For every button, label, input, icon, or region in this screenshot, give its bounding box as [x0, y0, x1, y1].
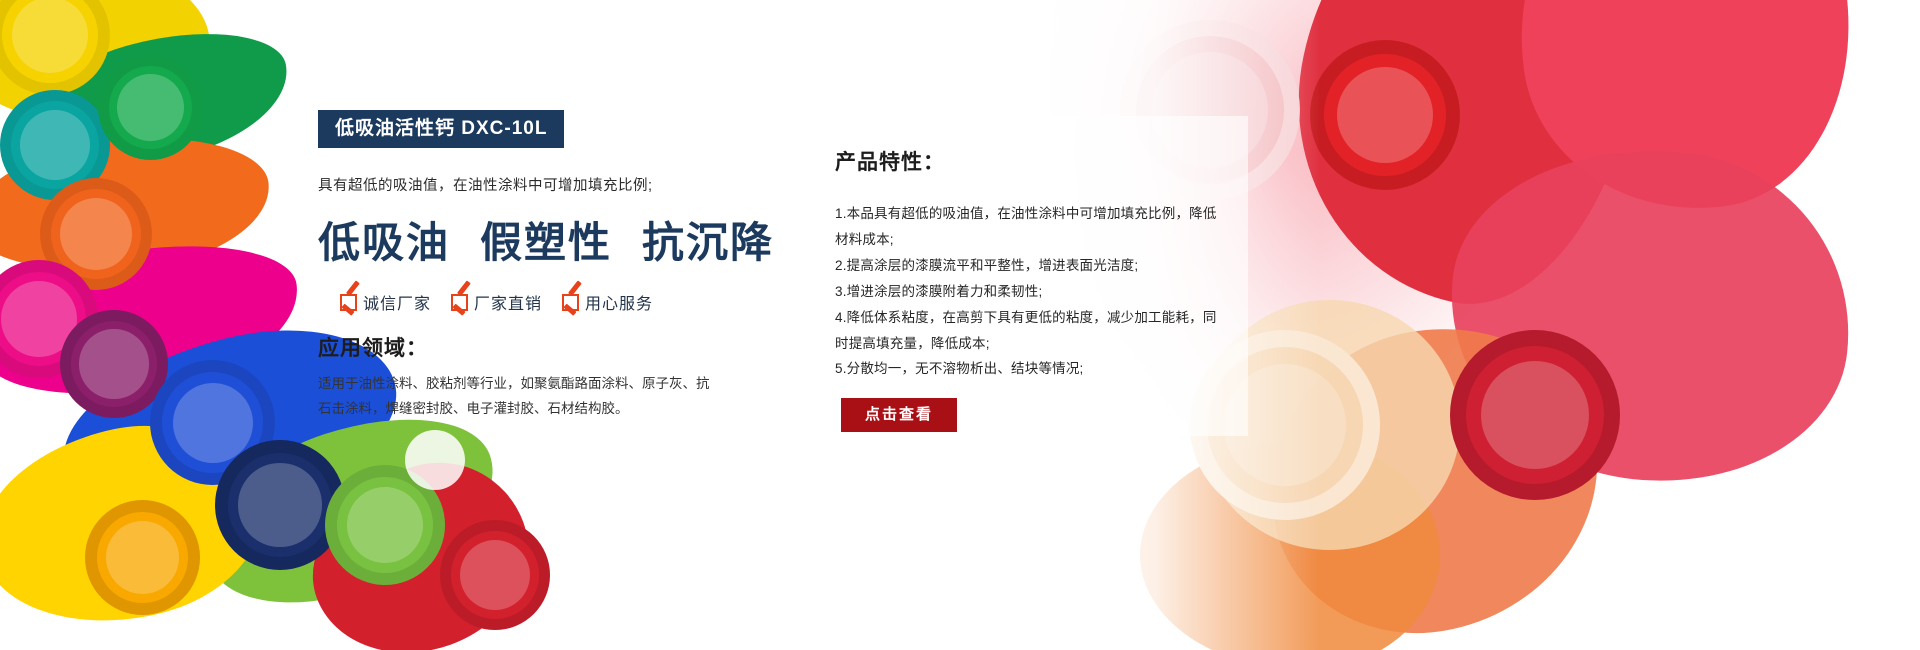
- feature-item: 5.分散均一，无不溶物析出、结块等情况;: [835, 356, 1220, 382]
- paint-pot-purple: [60, 310, 168, 418]
- paint-drop-white: [405, 430, 465, 490]
- trust-badge-2: 厂家直销: [451, 290, 542, 314]
- trust-badge-label: 厂家直销: [474, 290, 542, 314]
- feature-item: 2.提高涂层的漆膜流平和平整性，增进表面光洁度;: [835, 253, 1220, 279]
- application-field-title: 应用领域：: [318, 332, 738, 362]
- trust-badge-label: 诚信厂家: [363, 290, 431, 314]
- trust-badges: 诚信厂家 厂家直销 用心服务: [340, 290, 738, 314]
- features-list: 1.本品具有超低的吸油值，在油性涂料中可增加填充比例，降低材料成本; 2.提高涂…: [835, 201, 1220, 382]
- trust-badge-1: 诚信厂家: [340, 290, 431, 314]
- trust-badge-3: 用心服务: [562, 290, 653, 314]
- headline-word-2: 假塑性: [480, 209, 612, 270]
- feature-item: 4.降低体系粘度，在高剪下具有更低的粘度，减少加工能耗，同时提高填充量，降低成本…: [835, 305, 1220, 357]
- paint-pot-navy: [215, 440, 345, 570]
- panel-inner: 产品特性： 1.本品具有超低的吸油值，在油性涂料中可增加填充比例，降低材料成本;…: [803, 116, 1248, 432]
- application-field-description: 适用于油性涂料、胶粘剂等行业，如聚氨酯路面涂料、原子灰、抗石击涂料，焊缝密封胶、…: [318, 372, 718, 422]
- checkmark-icon: [340, 294, 357, 311]
- paint-pot-bright-red: [1310, 40, 1460, 190]
- features-panel-title: 产品特性：: [835, 146, 1220, 176]
- view-details-button[interactable]: 点击查看: [841, 398, 957, 432]
- feature-item: 3.增进涂层的漆膜附着力和柔韧性;: [835, 279, 1220, 305]
- headline-keywords: 低吸油 假塑性 抗沉降: [318, 209, 738, 270]
- product-banner: 低吸油活性钙 DXC-10L 具有超低的吸油值，在油性涂料中可增加填充比例; 低…: [0, 0, 1920, 650]
- headline-word-3: 抗沉降: [642, 209, 774, 270]
- product-title-chip: 低吸油活性钙 DXC-10L: [318, 110, 564, 148]
- left-content-column: 低吸油活性钙 DXC-10L 具有超低的吸油值，在油性涂料中可增加填充比例; 低…: [318, 110, 738, 422]
- feature-item: 1.本品具有超低的吸油值，在油性涂料中可增加填充比例，降低材料成本;: [835, 201, 1220, 253]
- product-features-panel: 产品特性： 1.本品具有超低的吸油值，在油性涂料中可增加填充比例，降低材料成本;…: [803, 116, 1248, 436]
- paint-pot-green: [98, 55, 203, 160]
- product-subtitle: 具有超低的吸油值，在油性涂料中可增加填充比例;: [318, 174, 738, 195]
- checkmark-icon: [562, 294, 579, 311]
- headline-word-1: 低吸油: [318, 209, 450, 270]
- paint-pot-deep-red: [1450, 330, 1620, 500]
- paint-pot-red: [440, 520, 550, 630]
- paint-pot-amber: [85, 500, 200, 615]
- trust-badge-label: 用心服务: [585, 290, 653, 314]
- checkmark-icon: [451, 294, 468, 311]
